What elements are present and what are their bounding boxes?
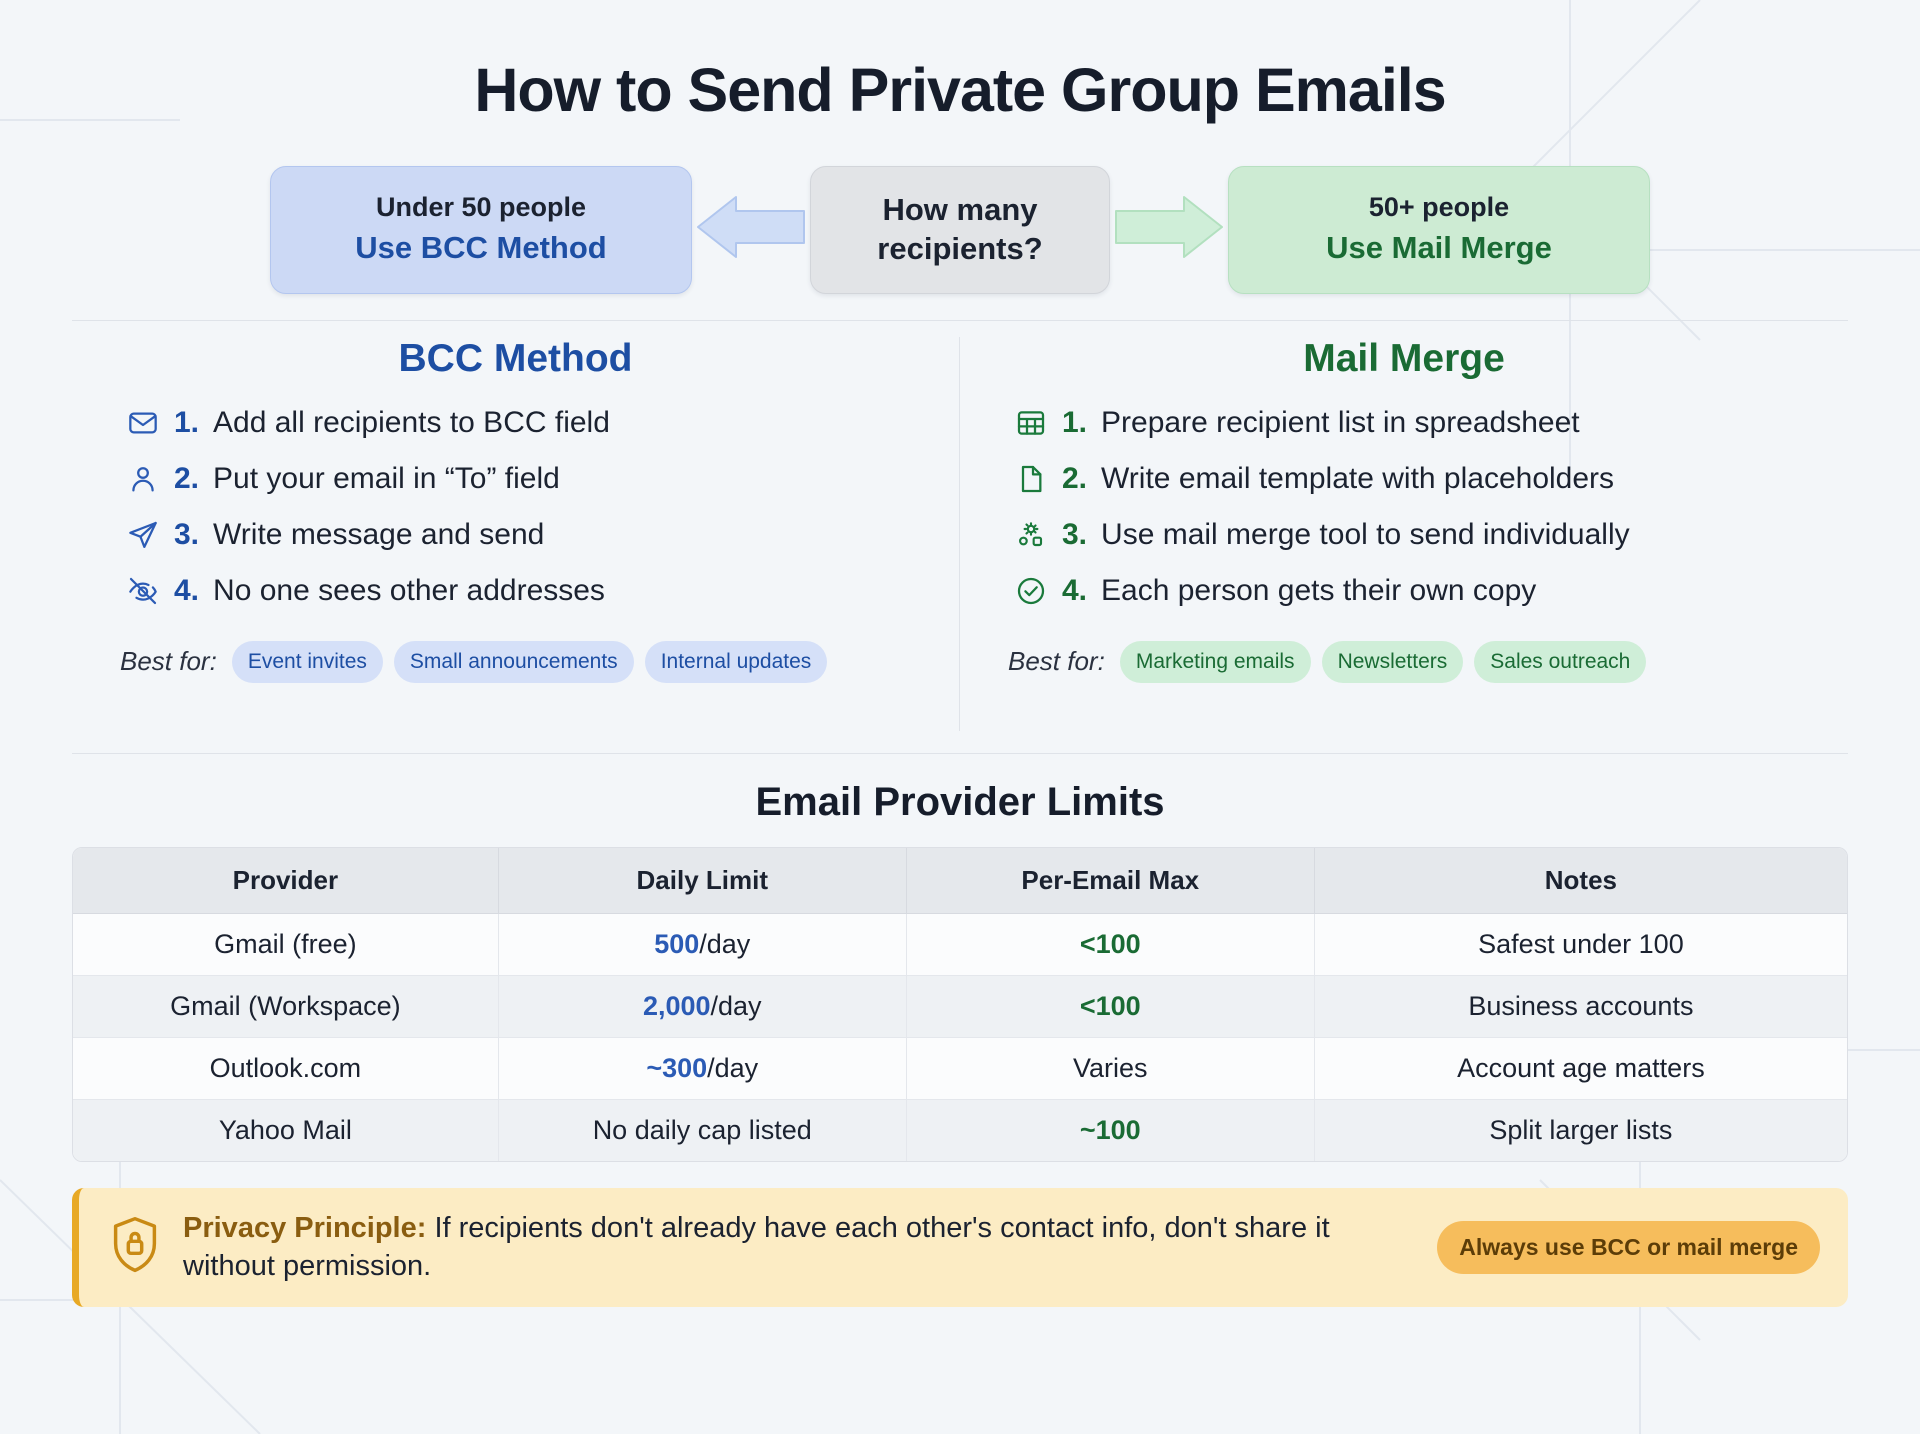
step-text: Each person gets their own copy bbox=[1101, 574, 1536, 608]
methods-section: BCC Method 1. Add all recipients to BCC … bbox=[72, 337, 1848, 731]
step-text: Write message and send bbox=[213, 518, 544, 552]
privacy-label: Privacy Principle: bbox=[183, 1212, 426, 1244]
flow-box-question[interactable]: How many recipients? bbox=[810, 166, 1110, 294]
cell-per-email-max: ~100 bbox=[907, 1100, 1315, 1161]
step-number: 1. bbox=[1062, 406, 1087, 440]
divider-top bbox=[72, 320, 1848, 321]
step-number: 2. bbox=[174, 462, 199, 496]
per-email-value: Varies bbox=[1073, 1053, 1148, 1083]
column-header-provider: Provider bbox=[73, 848, 499, 914]
cell-notes: Account age matters bbox=[1315, 1038, 1847, 1100]
step-text: Prepare recipient list in spreadsheet bbox=[1101, 406, 1580, 440]
table-row: Gmail (free) 500/day <100 Safest under 1… bbox=[73, 914, 1847, 976]
step-item: 4. No one sees other addresses bbox=[98, 563, 933, 619]
step-text: Use mail merge tool to send individually bbox=[1101, 518, 1630, 552]
step-item: 1. Prepare recipient list in spreadsheet bbox=[986, 395, 1822, 451]
flow-box-bcc-action: Use BCC Method bbox=[297, 228, 665, 268]
cell-notes: Split larger lists bbox=[1315, 1100, 1847, 1161]
cell-per-email-max: Varies bbox=[907, 1038, 1315, 1100]
cell-provider: Yahoo Mail bbox=[73, 1100, 499, 1161]
step-item: 4. Each person gets their own copy bbox=[986, 563, 1822, 619]
table-row: Outlook.com ~300/day Varies Account age … bbox=[73, 1038, 1847, 1100]
step-number: 4. bbox=[1062, 574, 1087, 608]
tag-chip[interactable]: Internal updates bbox=[645, 641, 828, 683]
daily-limit-plain: No daily cap listed bbox=[593, 1115, 812, 1145]
step-number: 3. bbox=[1062, 518, 1087, 552]
flow-question-line-2: recipients? bbox=[837, 230, 1083, 269]
step-item: 2. Put your email in “To” field bbox=[98, 451, 933, 507]
daily-limit-suffix: /day bbox=[699, 929, 750, 959]
column-header-daily-limit: Daily Limit bbox=[499, 848, 907, 914]
tag-chip[interactable]: Event invites bbox=[232, 641, 383, 683]
step-item: 1. Add all recipients to BCC field bbox=[98, 395, 933, 451]
envelope-icon bbox=[126, 406, 160, 440]
best-for-label: Best for: bbox=[120, 646, 217, 677]
divider-bottom bbox=[72, 753, 1848, 754]
cell-daily-limit: ~300/day bbox=[499, 1038, 907, 1100]
table-icon bbox=[1014, 406, 1048, 440]
step-item: 2. Write email template with placeholder… bbox=[986, 451, 1822, 507]
provider-limits-table: Provider Daily Limit Per-Email Max Notes… bbox=[72, 847, 1848, 1162]
cell-per-email-max: <100 bbox=[907, 976, 1315, 1038]
flow-box-merge-action: Use Mail Merge bbox=[1255, 228, 1623, 268]
flow-box-merge-condition: 50+ people bbox=[1255, 191, 1623, 225]
decision-flow: Under 50 people Use BCC Method How many … bbox=[72, 162, 1848, 298]
step-text: No one sees other addresses bbox=[213, 574, 605, 608]
cell-provider: Gmail (free) bbox=[73, 914, 499, 976]
per-email-value: ~100 bbox=[1080, 1115, 1141, 1145]
table-header-row: Provider Daily Limit Per-Email Max Notes bbox=[73, 848, 1847, 914]
tag-chip[interactable]: Small announcements bbox=[394, 641, 634, 683]
person-icon bbox=[126, 462, 160, 496]
method-column-mail-merge: Mail Merge 1. Prepare recipient list in … bbox=[960, 337, 1848, 731]
method-column-bcc: BCC Method 1. Add all recipients to BCC … bbox=[72, 337, 960, 731]
cell-daily-limit: 500/day bbox=[499, 914, 907, 976]
flow-box-mail-merge[interactable]: 50+ people Use Mail Merge bbox=[1228, 166, 1650, 294]
document-icon bbox=[1014, 462, 1048, 496]
table-row: Gmail (Workspace) 2,000/day <100 Busines… bbox=[73, 976, 1847, 1038]
page-title: How to Send Private Group Emails bbox=[72, 0, 1848, 124]
cell-provider: Gmail (Workspace) bbox=[73, 976, 499, 1038]
eye-off-icon bbox=[126, 574, 160, 608]
shield-lock-icon bbox=[107, 1215, 163, 1280]
daily-limit-value: 2,000 bbox=[643, 991, 711, 1021]
infographic-page: How to Send Private Group Emails Under 5… bbox=[0, 0, 1920, 1434]
send-icon bbox=[126, 518, 160, 552]
best-for-row-mail-merge: Best for: Marketing emails Newsletters S… bbox=[986, 641, 1822, 683]
step-text: Add all recipients to BCC field bbox=[213, 406, 610, 440]
privacy-text: Privacy Principle: If recipients don't a… bbox=[183, 1210, 1417, 1285]
step-list-bcc: 1. Add all recipients to BCC field 2. Pu… bbox=[98, 395, 933, 619]
table-heading: Email Provider Limits bbox=[72, 780, 1848, 825]
cell-daily-limit: No daily cap listed bbox=[499, 1100, 907, 1161]
per-email-value: <100 bbox=[1080, 929, 1141, 959]
privacy-badge[interactable]: Always use BCC or mail merge bbox=[1437, 1221, 1820, 1274]
per-email-value: <100 bbox=[1080, 991, 1141, 1021]
step-item: 3. Use mail merge tool to send individua… bbox=[986, 507, 1822, 563]
settings-gear-icon bbox=[1014, 518, 1048, 552]
step-text: Write email template with placeholders bbox=[1101, 462, 1614, 496]
cell-notes: Safest under 100 bbox=[1315, 914, 1847, 976]
daily-limit-suffix: /day bbox=[707, 1053, 758, 1083]
method-title-bcc: BCC Method bbox=[98, 337, 933, 381]
cell-provider: Outlook.com bbox=[73, 1038, 499, 1100]
cell-notes: Business accounts bbox=[1315, 976, 1847, 1038]
best-for-row-bcc: Best for: Event invites Small announceme… bbox=[98, 641, 933, 683]
daily-limit-value: 500 bbox=[654, 929, 699, 959]
step-list-mail-merge: 1. Prepare recipient list in spreadsheet… bbox=[986, 395, 1822, 619]
tag-chip[interactable]: Marketing emails bbox=[1120, 641, 1311, 683]
step-number: 4. bbox=[174, 574, 199, 608]
column-header-per-email-max: Per-Email Max bbox=[907, 848, 1315, 914]
table-row: Yahoo Mail No daily cap listed ~100 Spli… bbox=[73, 1100, 1847, 1161]
cell-per-email-max: <100 bbox=[907, 914, 1315, 976]
cell-daily-limit: 2,000/day bbox=[499, 976, 907, 1038]
best-for-label: Best for: bbox=[1008, 646, 1105, 677]
flow-box-bcc[interactable]: Under 50 people Use BCC Method bbox=[270, 166, 692, 294]
check-circle-icon bbox=[1014, 574, 1048, 608]
daily-limit-suffix: /day bbox=[711, 991, 762, 1021]
step-number: 2. bbox=[1062, 462, 1087, 496]
step-text: Put your email in “To” field bbox=[213, 462, 560, 496]
column-header-notes: Notes bbox=[1315, 848, 1847, 914]
tag-chip[interactable]: Newsletters bbox=[1322, 641, 1464, 683]
step-number: 1. bbox=[174, 406, 199, 440]
method-title-mail-merge: Mail Merge bbox=[986, 337, 1822, 381]
step-number: 3. bbox=[174, 518, 199, 552]
arrow-right-icon bbox=[1110, 195, 1228, 264]
flow-box-bcc-condition: Under 50 people bbox=[297, 191, 665, 225]
privacy-principle-banner: Privacy Principle: If recipients don't a… bbox=[72, 1188, 1848, 1307]
step-item: 3. Write message and send bbox=[98, 507, 933, 563]
flow-question-line-1: How many bbox=[837, 191, 1083, 230]
daily-limit-value: ~300 bbox=[646, 1053, 707, 1083]
arrow-left-icon bbox=[692, 195, 810, 264]
tag-chip[interactable]: Sales outreach bbox=[1474, 641, 1646, 683]
